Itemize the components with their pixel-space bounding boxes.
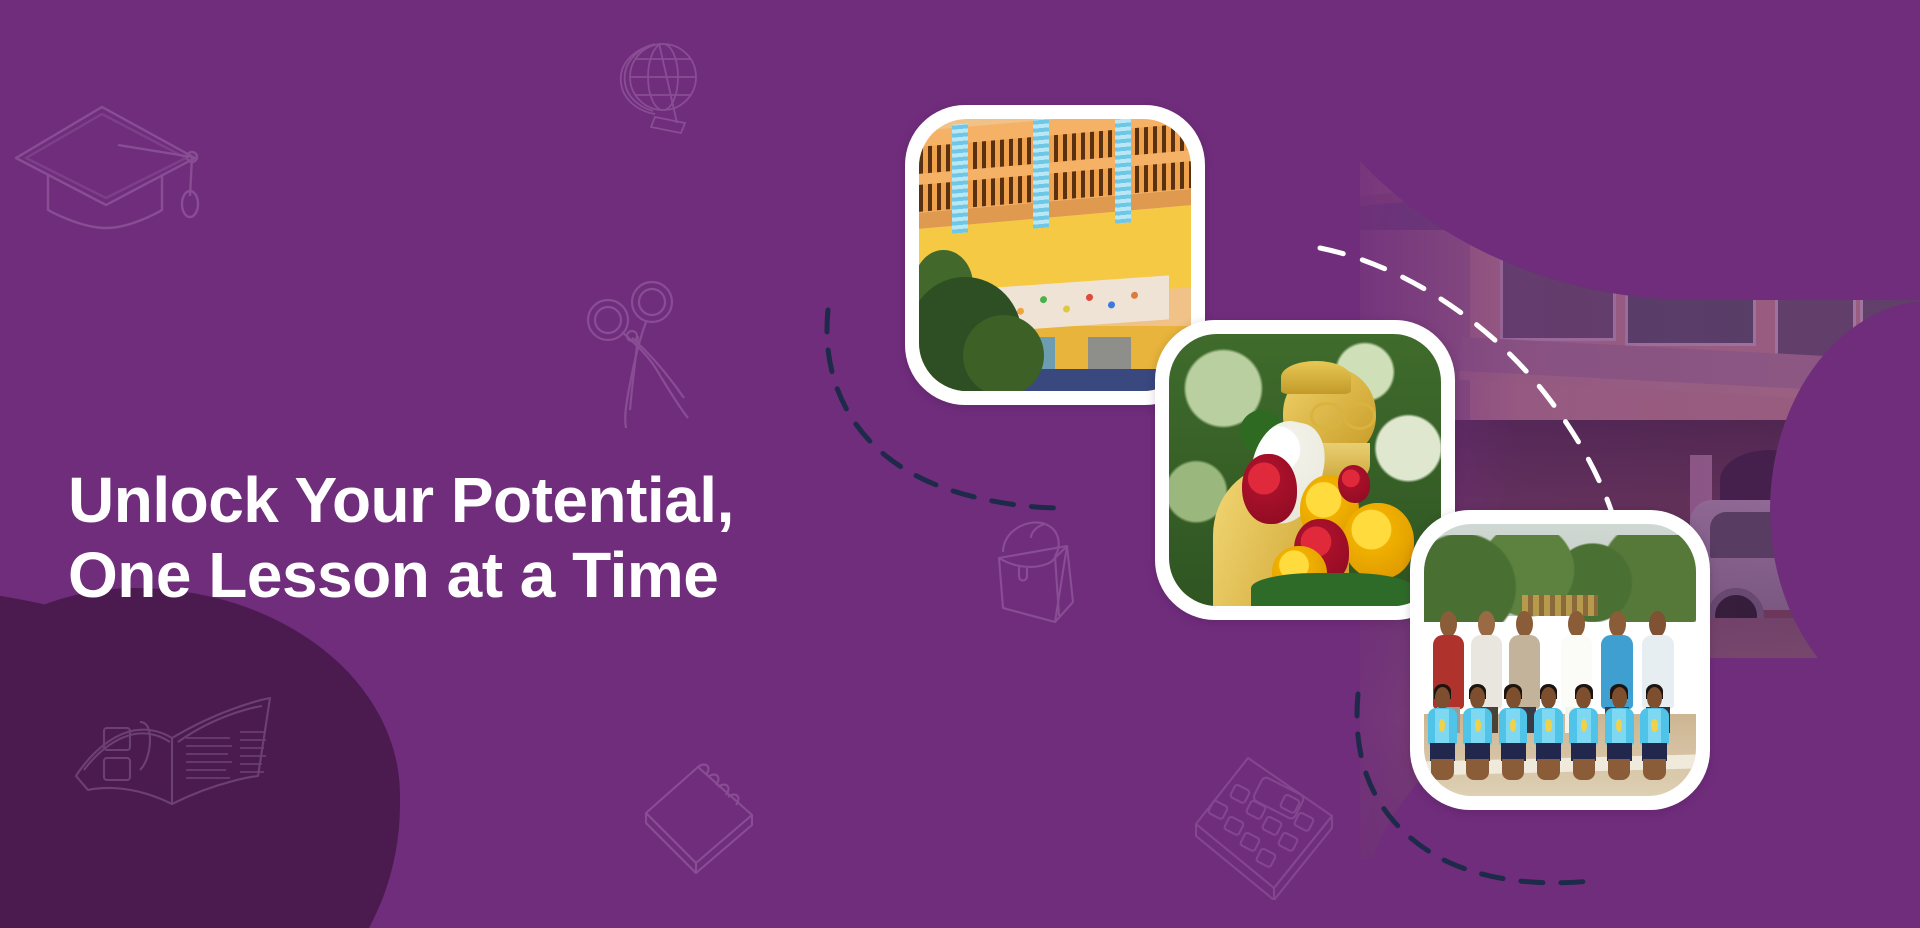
headline-line-1: Unlock Your Potential,: [68, 463, 948, 539]
scissors-icon: [580, 280, 720, 440]
notebook-icon: [640, 755, 770, 875]
team-player: [1568, 687, 1599, 779]
statue-spectacles: [1310, 402, 1343, 430]
hero-banner: Unlock Your Potential, One Lesson at a T…: [0, 0, 1920, 928]
photo-card-sports-team-image: [1424, 524, 1696, 796]
school-tree: [963, 315, 1045, 391]
headline-line-2: One Lesson at a Time: [68, 538, 948, 614]
statue-hair: [1281, 361, 1352, 394]
school-blue-column: [1033, 119, 1049, 229]
photo-card-school-building-image: [919, 119, 1191, 391]
globe-icon: [615, 35, 710, 140]
garland-red-flowers: [1338, 465, 1371, 503]
statue-spectacles: [1343, 402, 1376, 430]
school-blue-column: [952, 124, 968, 234]
hero-headline: Unlock Your Potential, One Lesson at a T…: [68, 463, 948, 614]
photo-card-sports-team[interactable]: [1410, 510, 1710, 810]
team-player: [1462, 687, 1493, 779]
graduation-cap-icon: [10, 100, 200, 250]
team-player: [1639, 687, 1670, 779]
team-player: [1427, 687, 1458, 779]
backpack-icon: [985, 512, 1097, 634]
garland-base-foliage: [1251, 573, 1414, 606]
garland-red-flowers: [1242, 454, 1296, 525]
calculator-icon: [1190, 750, 1340, 900]
garland-yellow-flowers: [1343, 503, 1414, 579]
team-player: [1497, 687, 1528, 779]
team-player: [1533, 687, 1564, 779]
team-player: [1604, 687, 1635, 779]
photo-card-golden-statue-image: [1169, 334, 1441, 606]
open-book-icon: [70, 680, 280, 830]
school-blue-column: [1115, 119, 1131, 223]
